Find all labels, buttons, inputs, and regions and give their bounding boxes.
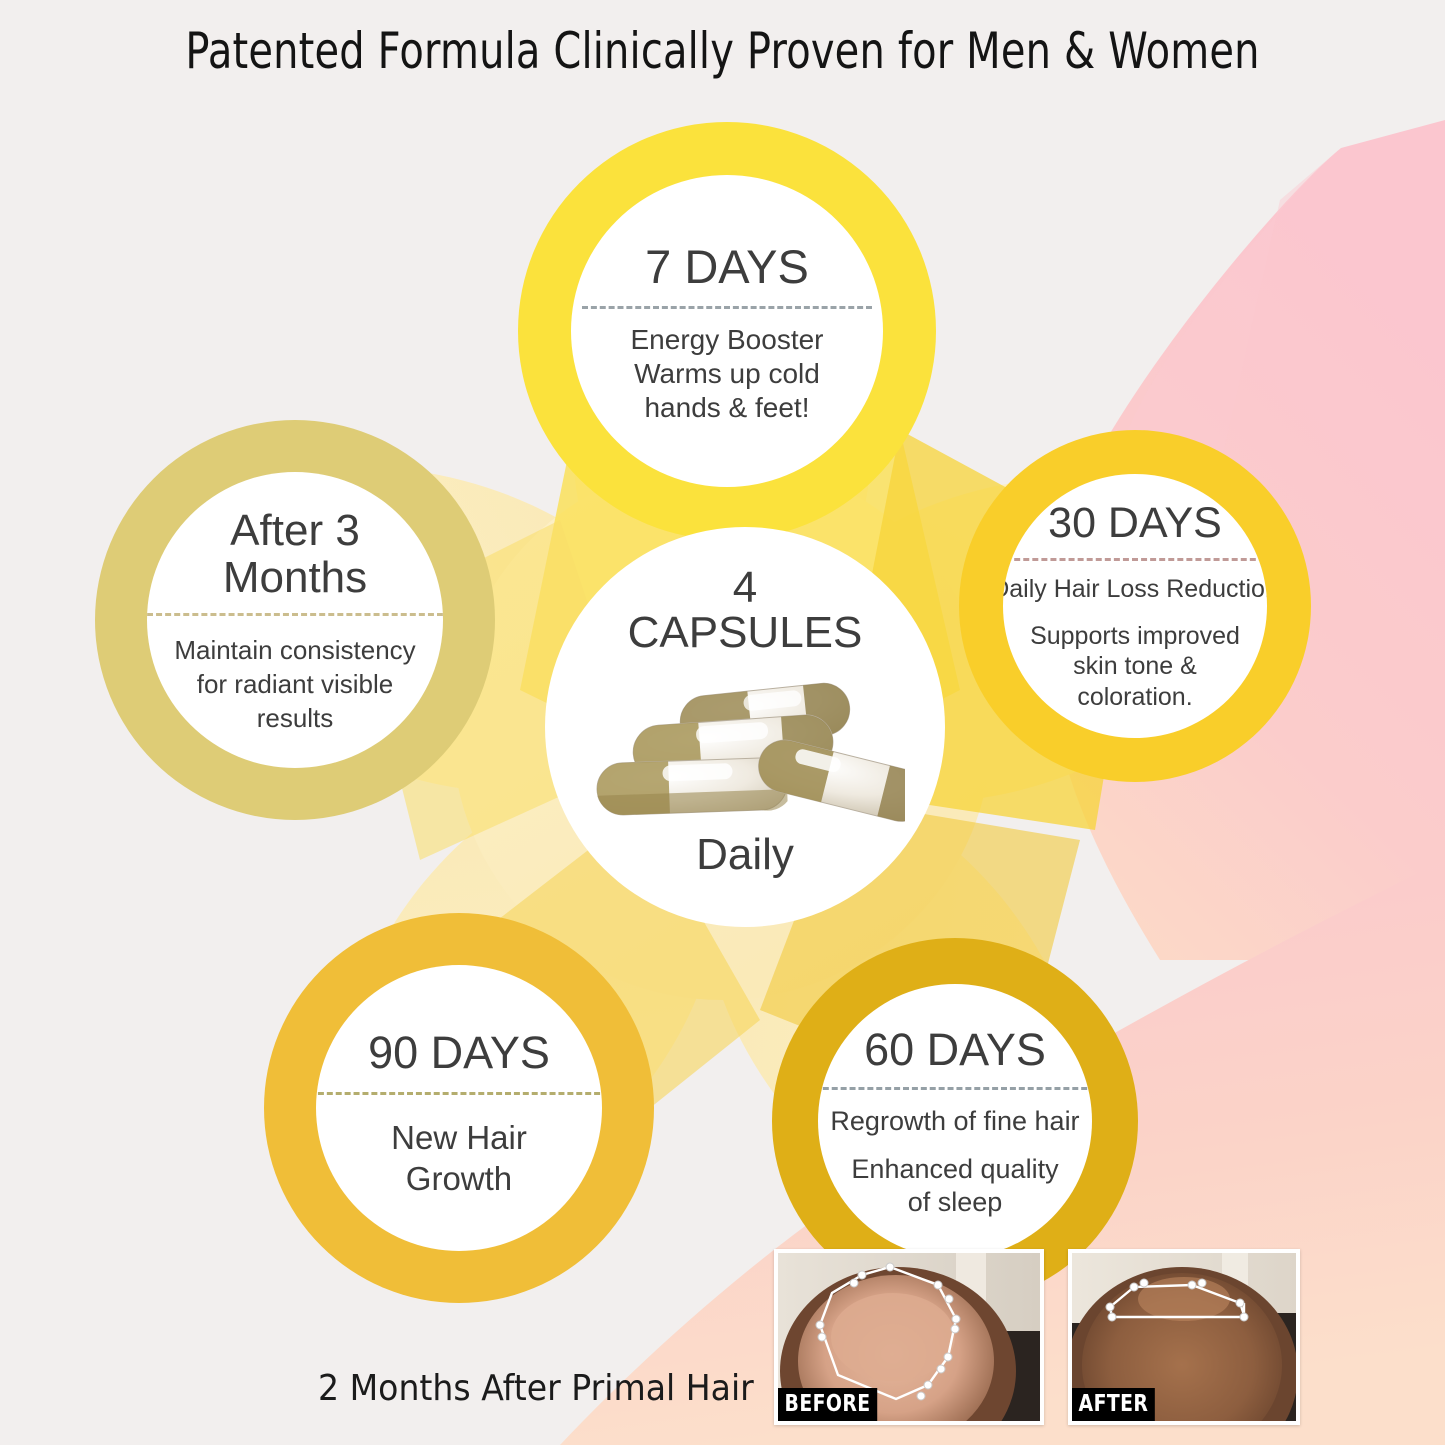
page-title: Patented Formula Clinically Proven for M…	[145, 22, 1301, 80]
node-60-days-inner: 60 DAYS Regrowth of fine hair Enhanced q…	[818, 984, 1092, 1258]
node-60-days-divider	[818, 1087, 1092, 1090]
node-30-days-body-secondary: Supports improved skin tone & coloration…	[1030, 621, 1240, 713]
node-30-days[interactable]: 30 DAYS Daily Hair Loss Reduction Suppor…	[959, 430, 1311, 782]
photo-before-image: BEFORE	[778, 1253, 1040, 1421]
node-60-days-heading: 60 DAYS	[864, 1027, 1046, 1073]
node-7-days[interactable]: 7 DAYS Energy Booster Warms up cold hand…	[518, 122, 936, 540]
node-90-days-body: New Hair Growth	[391, 1117, 527, 1200]
center-title: 4 CAPSULES	[628, 565, 863, 656]
node-90-days-heading: 90 DAYS	[368, 1030, 550, 1076]
node-7-days-body: Energy Booster Warms up cold hands & fee…	[631, 323, 824, 425]
node-after-3-months[interactable]: After 3 Months Maintain consistency for …	[95, 420, 495, 820]
photo-after[interactable]: AFTER	[1068, 1249, 1300, 1425]
capsules-image	[585, 664, 905, 824]
node-30-days-body: Daily Hair Loss Reduction	[1003, 574, 1267, 605]
node-30-days-inner: 30 DAYS Daily Hair Loss Reduction Suppor…	[1003, 474, 1267, 738]
node-90-days-divider	[316, 1092, 602, 1095]
infographic-root: Patented Formula Clinically Proven for M…	[0, 0, 1445, 1445]
node-90-days-inner: 90 DAYS New Hair Growth	[316, 965, 602, 1251]
photo-before[interactable]: BEFORE	[774, 1249, 1044, 1425]
node-60-days-body: Regrowth of fine hair	[818, 1105, 1092, 1138]
photo-before-label: BEFORE	[778, 1388, 877, 1421]
node-7-days-heading: 7 DAYS	[645, 243, 809, 291]
photo-after-label: AFTER	[1072, 1388, 1155, 1421]
node-after-3-months-divider	[147, 613, 443, 616]
node-7-days-divider	[582, 306, 872, 309]
node-7-days-inner: 7 DAYS Energy Booster Warms up cold hand…	[571, 175, 883, 487]
node-after-3-months-inner: After 3 Months Maintain consistency for …	[147, 472, 443, 768]
node-after-3-months-body: Maintain consistency for radiant visible…	[174, 634, 415, 735]
node-90-days[interactable]: 90 DAYS New Hair Growth	[264, 913, 654, 1303]
node-30-days-divider	[1003, 558, 1267, 561]
results-caption: 2 Months After Primal Hair	[318, 1368, 754, 1409]
center-subtitle: Daily	[696, 830, 794, 880]
node-30-days-heading: 30 DAYS	[1048, 502, 1222, 546]
center-circle-dosage[interactable]: 4 CAPSULES	[545, 527, 945, 927]
node-after-3-months-heading: After 3 Months	[223, 508, 367, 601]
node-60-days-body-secondary: Enhanced quality of sleep	[851, 1153, 1058, 1219]
photo-after-image: AFTER	[1072, 1253, 1296, 1421]
